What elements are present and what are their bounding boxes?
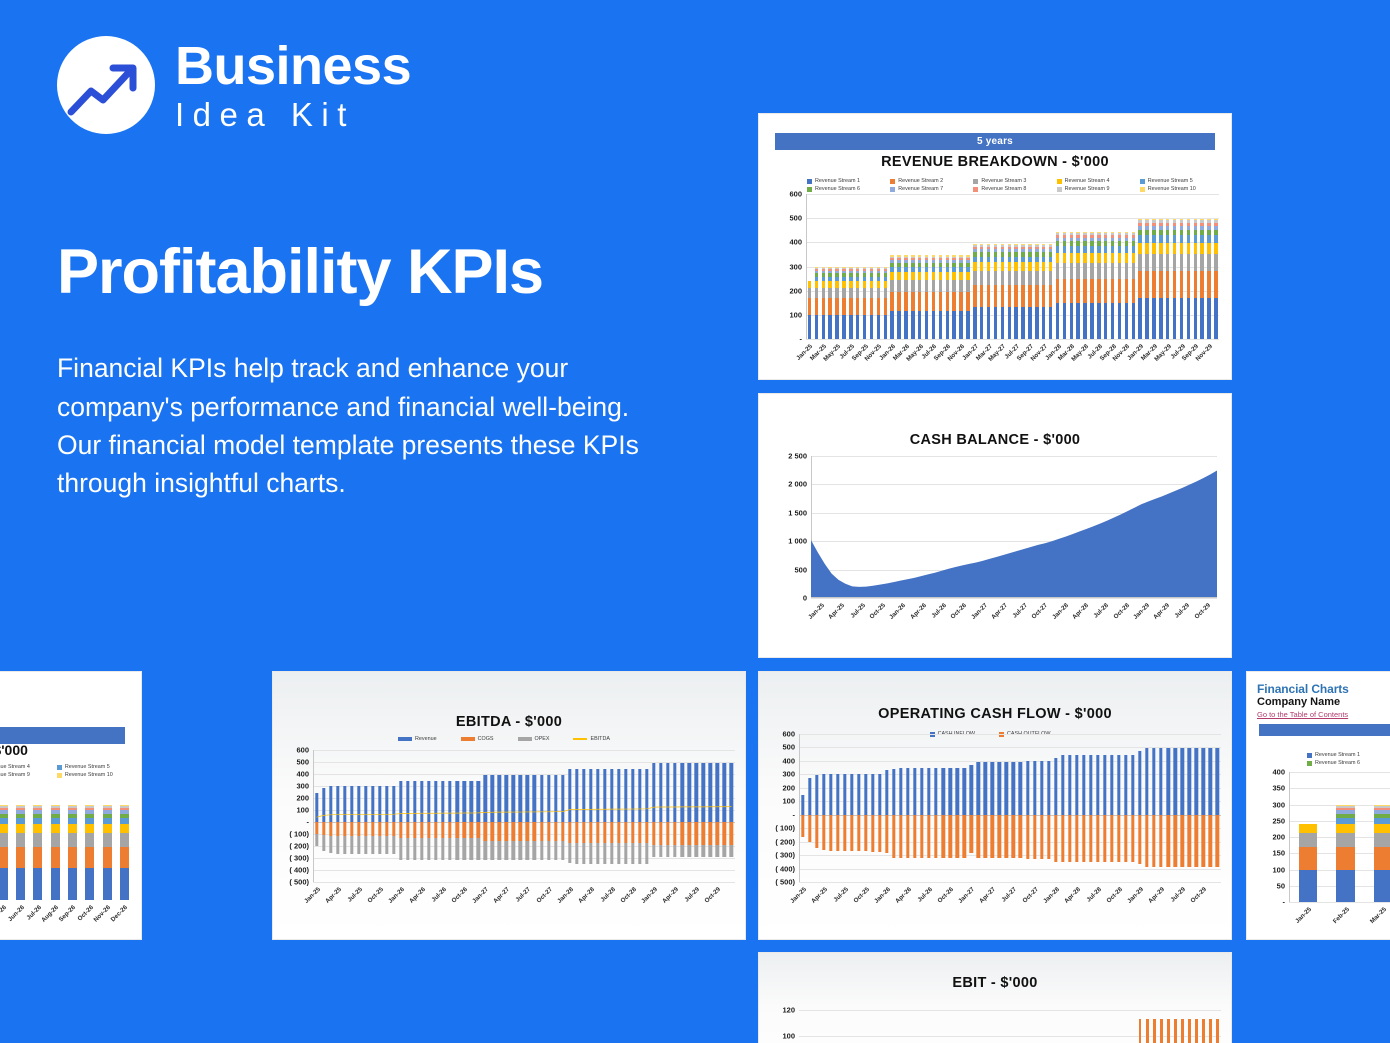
legend-label: Revenue Stream 9 <box>1065 186 1110 192</box>
stacked-bar <box>870 194 873 339</box>
bar-column <box>971 194 978 339</box>
bar-segment <box>952 311 955 339</box>
stacked-bar <box>828 194 831 339</box>
legend-color-swatch <box>890 179 895 184</box>
bar-column <box>968 997 975 1043</box>
bar-segment <box>884 315 887 339</box>
bar-segment <box>932 292 935 311</box>
bar-segment <box>904 292 907 311</box>
x-axis-tick-label: Feb-25 <box>1331 906 1350 925</box>
bar <box>1160 1019 1163 1043</box>
bar-segment <box>1214 271 1217 298</box>
card-financial-charts-panel[interactable]: Financial Charts Company Name Go to the … <box>1246 671 1390 940</box>
x-axis-labels-revenue-breakdown-24m: Nov-25Dec-25Jan-26Feb-26Mar-26Apr-26May-… <box>0 902 133 932</box>
bar-segment <box>1104 263 1107 279</box>
bar-segment <box>1138 243 1141 254</box>
bar-positive <box>1209 748 1212 814</box>
bar-positive <box>1061 755 1064 814</box>
bar-column <box>1199 194 1206 339</box>
bar-segment <box>828 288 831 299</box>
bar <box>1181 1019 1184 1043</box>
bar-segment <box>946 280 949 292</box>
bar-positive <box>1040 761 1043 814</box>
bar-column <box>1017 734 1024 882</box>
bar-column <box>961 997 968 1043</box>
bar-segment <box>994 307 997 339</box>
bar-segment <box>1104 253 1107 263</box>
bar-segment <box>16 833 25 847</box>
legend-color-swatch <box>1057 179 1062 184</box>
legend-item: Revenue Stream 1 <box>807 178 890 184</box>
x-tick-slot: Oct-29 <box>1197 600 1217 630</box>
bar-column <box>985 194 992 339</box>
x-tick-slot: Apr-26 <box>418 884 425 914</box>
bar-segment <box>1063 303 1066 339</box>
bar-segment <box>1374 847 1390 869</box>
bar-segment <box>16 824 25 833</box>
y-axis-tick-label: 350 <box>1272 784 1285 793</box>
bar-segment <box>1166 243 1169 254</box>
x-axis-labels-cash-balance: Jan-25Apr-25Jul-25Oct-25Jan-26Apr-26Jul-… <box>811 600 1217 630</box>
bar-segment <box>1070 253 1073 263</box>
stacked-bar <box>1021 194 1024 339</box>
bar-segment <box>987 262 990 271</box>
bar-wrap <box>1047 734 1050 882</box>
bar-segment <box>856 288 859 299</box>
y-axis-tick-label: 600 <box>789 190 802 199</box>
stacked-bar <box>1187 194 1190 339</box>
x-tick-slot: Apr-29 <box>1158 884 1165 914</box>
table-of-contents-link[interactable]: Go to the Table of Contents <box>1257 710 1348 719</box>
x-tick-slot: Oct-25 <box>376 884 383 914</box>
bar-column <box>1080 997 1087 1043</box>
bar-segment <box>1180 271 1183 298</box>
y-axis-tick-label: ( 100) <box>775 824 795 833</box>
bar-segment <box>1180 254 1183 272</box>
bar-segment <box>1056 253 1059 263</box>
legend-color-swatch <box>1307 761 1312 766</box>
bar-negative <box>1089 815 1092 862</box>
bar-segment <box>918 280 921 292</box>
bar-negative <box>1131 815 1134 862</box>
bar-positive <box>991 762 994 815</box>
legend-color-swatch <box>1140 179 1145 184</box>
plot-area-financial-charts-panel: 40035030025020015010050- <box>1289 772 1390 902</box>
bar-negative <box>956 815 959 858</box>
bar-segment <box>890 280 893 292</box>
bar-segment <box>33 868 42 900</box>
bar-column <box>1364 772 1390 902</box>
bar-segment <box>1194 243 1197 254</box>
bar-segment <box>939 280 942 292</box>
stacked-bar <box>1118 194 1121 339</box>
bar-segment <box>1001 262 1004 271</box>
bar-column <box>904 734 911 882</box>
plot-area-revenue-breakdown-5y: 600500400300200100- <box>806 194 1219 339</box>
bar-segment <box>842 288 845 299</box>
card-operating-cash-flow[interactable]: OPERATING CASH FLOW - $'000 CASH INFLOWC… <box>758 671 1232 940</box>
x-tick-slot: Jan-28 <box>566 884 573 914</box>
bar-column <box>1101 997 1108 1043</box>
bar-wrap <box>836 734 839 882</box>
bar-segment <box>1063 279 1066 303</box>
x-axis-tick-label: Apr-29 <box>1152 602 1171 621</box>
bar-column <box>1094 734 1101 882</box>
bar-column <box>912 997 919 1043</box>
bar-column <box>1178 194 1185 339</box>
bar-column <box>890 734 897 882</box>
bar-segment <box>16 868 25 900</box>
legend-item: Revenue Stream 10 <box>1140 186 1223 192</box>
bar-segment <box>68 847 77 868</box>
bar-segment <box>1152 235 1155 242</box>
x-tick-slot: Mar-25 <box>1364 904 1390 934</box>
bar-column <box>1137 997 1144 1043</box>
bar-segment <box>1132 303 1135 339</box>
bar-segment <box>1187 243 1190 254</box>
bar-negative <box>1054 815 1057 862</box>
bar-negative <box>1103 815 1106 862</box>
bar-segment <box>85 833 94 847</box>
x-tick-slot: Oct-26 <box>461 884 468 914</box>
bar-segment <box>1014 271 1017 285</box>
stacked-bar <box>911 194 914 339</box>
bar-column <box>875 194 882 339</box>
bar-column <box>841 734 848 882</box>
bar-segment <box>1118 279 1121 303</box>
x-tick-slot: Oct-26 <box>947 884 954 914</box>
bar-segment <box>987 285 990 307</box>
stacked-bar <box>51 790 60 900</box>
y-axis-tick-label: 400 <box>296 770 309 779</box>
bar-column <box>1024 997 1031 1043</box>
bar-segment <box>1063 263 1066 279</box>
x-axis-tick-label: Oct-29 <box>1193 602 1212 621</box>
bar-segment <box>884 288 887 299</box>
stacked-bar <box>973 194 976 339</box>
bar <box>1202 1019 1205 1043</box>
bar-column <box>1158 734 1165 882</box>
bar-segment <box>863 281 866 288</box>
bar-segment <box>1152 254 1155 272</box>
bar-wrap <box>808 734 811 882</box>
bar-positive <box>1159 748 1162 814</box>
bar-segment <box>1166 271 1169 298</box>
stacked-bar <box>120 790 129 900</box>
bar-wrap <box>1124 734 1127 882</box>
bar <box>1146 1019 1149 1043</box>
bar-negative <box>1159 815 1162 867</box>
bar-column <box>1089 194 1096 339</box>
bar-segment <box>952 280 955 292</box>
legend-label: Revenue Stream 10 <box>65 772 113 778</box>
bar-segment <box>1090 253 1093 263</box>
legend-item: Revenue Stream 8 <box>973 186 1056 192</box>
bar-negative <box>850 815 853 852</box>
bar-column <box>1082 194 1089 339</box>
bar-column <box>876 997 883 1043</box>
bar-column <box>1123 194 1130 339</box>
stacked-bar <box>1138 194 1141 339</box>
bar-column <box>930 194 937 339</box>
bar-segment <box>849 298 852 314</box>
bar-wrap <box>1117 734 1120 882</box>
bar-wrap <box>948 734 951 882</box>
bar-segment <box>863 288 866 299</box>
card-cash-balance[interactable]: CASH BALANCE - $'000 2 5002 0001 5001 00… <box>758 393 1232 658</box>
bar-segment <box>1214 298 1217 339</box>
bar-wrap <box>1216 734 1219 882</box>
bar-segment <box>1118 253 1121 263</box>
bar-negative <box>1152 815 1155 867</box>
bar-positive <box>899 768 902 814</box>
card-ebit[interactable]: EBIT - $'000 12010080 <box>758 952 1232 1043</box>
bar-segment <box>1083 253 1086 263</box>
bar-wrap <box>822 734 825 882</box>
y-axis-tick-label: 300 <box>789 262 802 271</box>
bar-segment <box>835 298 838 314</box>
bar-positive <box>1089 755 1092 814</box>
bar-segment <box>1173 235 1176 242</box>
stacked-bar <box>1070 194 1073 339</box>
bar-column <box>1207 734 1214 882</box>
legend-color-swatch <box>973 187 978 192</box>
bar-column <box>847 194 854 339</box>
bar-column <box>1186 734 1193 882</box>
y-axis-tick-label: 500 <box>794 565 807 574</box>
legend-revenue-streams-24m: Revenue Stream 3Revenue Stream 4Revenue … <box>0 764 137 778</box>
legend-label: Revenue Stream 4 <box>1065 178 1110 184</box>
x-axis-labels-operating-cash-flow: Jan-25Apr-25Jul-25Oct-25Jan-26Apr-26Jul-… <box>799 884 1221 914</box>
bar-wrap <box>892 734 895 882</box>
bar-wrap <box>1188 734 1191 882</box>
y-axis-tick-label: 400 <box>789 238 802 247</box>
bar-column <box>947 734 954 882</box>
card-revenue-breakdown-24m[interactable]: 24 months REAKDOWN - $'000 Revenue Strea… <box>0 671 142 940</box>
bar-column <box>1010 997 1017 1043</box>
bar-positive <box>843 774 846 815</box>
bar-segment <box>1138 235 1141 242</box>
bar-negative <box>1005 815 1008 859</box>
bar-column <box>1185 194 1192 339</box>
bar-segment <box>1200 271 1203 298</box>
x-tick-slot <box>1214 884 1221 914</box>
bar-negative <box>1181 815 1184 867</box>
bar-segment <box>925 292 928 311</box>
bar-segment <box>946 292 949 311</box>
bar-segment <box>1159 243 1162 254</box>
stacked-bar <box>877 194 880 339</box>
bar-segment <box>1200 298 1203 339</box>
bar-segment <box>1336 833 1354 847</box>
slide-canvas: Business Idea Kit Profitability KPIs Fin… <box>0 0 1390 1043</box>
bar-wrap <box>801 734 804 882</box>
bar-segment <box>1180 243 1183 254</box>
bar-segment <box>994 285 997 307</box>
bar-segment <box>1028 271 1031 285</box>
bar-wrap <box>850 734 853 882</box>
bar-segment <box>925 280 928 292</box>
bar-segment <box>1299 824 1317 833</box>
bar-segment <box>959 272 962 280</box>
bar-segment <box>1194 254 1197 272</box>
bar-column <box>933 997 940 1043</box>
bar-positive <box>906 768 909 814</box>
bar-column <box>958 194 965 339</box>
legend-color-swatch <box>398 737 412 741</box>
legend-color-swatch <box>518 737 532 741</box>
bar-column <box>827 194 834 339</box>
bar-segment <box>877 288 880 299</box>
y-axis-tick-label: 2 000 <box>788 480 807 489</box>
bar-wrap <box>977 734 980 882</box>
bar-positive <box>941 768 944 814</box>
legend-label: Revenue Stream 7 <box>898 186 943 192</box>
bar-column <box>1033 194 1040 339</box>
bar-column <box>964 194 971 339</box>
x-axis-tick-label: Jan-25 <box>789 886 808 905</box>
bar-segment <box>835 315 838 339</box>
x-axis-labels-financial-charts-panel: Jan-25Feb-25Mar-25Apr-25May-25Jun-25 <box>1289 904 1390 934</box>
bar-column <box>1137 734 1144 882</box>
bar-segment <box>904 311 907 339</box>
bar-negative <box>1166 815 1169 867</box>
bar-segment <box>890 292 893 311</box>
bar-segment <box>1166 298 1169 339</box>
bar-segment <box>1374 833 1390 847</box>
x-tick-slot: Jan-27 <box>482 884 489 914</box>
stacked-bar <box>1104 194 1107 339</box>
bar-column <box>996 734 1003 882</box>
bar-segment <box>1187 271 1190 298</box>
bar-negative <box>1209 815 1212 867</box>
y-axis-tick-label: 500 <box>782 743 795 752</box>
x-axis-tick-label: Jul-28 <box>1093 602 1111 620</box>
bar-segment <box>1076 303 1079 339</box>
bar-column <box>855 997 862 1043</box>
bar-segment <box>1070 279 1073 303</box>
bar-segment <box>85 847 94 868</box>
bar-column <box>834 194 841 339</box>
bar-segment <box>815 298 818 314</box>
bar-column <box>889 194 896 339</box>
bar-column <box>1157 194 1164 339</box>
bar-column <box>882 194 889 339</box>
y-axis-tick-label: 150 <box>1272 849 1285 858</box>
bar-segment <box>1194 271 1197 298</box>
bar-column <box>869 997 876 1043</box>
bar-column <box>947 997 954 1043</box>
bar-segment <box>1159 271 1162 298</box>
x-tick-slot: Oct-28 <box>1115 884 1122 914</box>
bar-wrap <box>1089 734 1092 882</box>
bar-wrap <box>857 734 860 882</box>
bar-positive <box>1195 748 1198 814</box>
bar-segment <box>1104 279 1107 303</box>
bar-wrap <box>991 734 994 882</box>
bar-segment <box>808 315 811 339</box>
bar-segment <box>51 868 60 900</box>
legend-item: Revenue Stream 5 <box>57 764 137 770</box>
bar-column <box>1137 194 1144 339</box>
stacked-bar <box>1145 194 1148 339</box>
bar <box>1174 1019 1177 1043</box>
bar-column <box>81 790 98 900</box>
legend-label: Revenue Stream 5 <box>65 764 110 770</box>
stacked-bar <box>1083 194 1086 339</box>
bar-segment <box>1125 279 1128 303</box>
y-axis-tick-label: 200 <box>782 783 795 792</box>
stacked-bar <box>897 194 900 339</box>
bar-wrap <box>815 734 818 882</box>
bar-positive <box>808 778 811 815</box>
bar-segment <box>1299 847 1317 869</box>
bar-segment <box>1056 263 1059 279</box>
bar-segment <box>1336 824 1354 833</box>
x-tick-slot: Oct-29 <box>1200 884 1207 914</box>
bar-positive <box>956 768 959 814</box>
bar-segment <box>1076 279 1079 303</box>
stacked-bar <box>946 194 949 339</box>
stacked-bar <box>863 194 866 339</box>
bar-wrap <box>956 734 959 882</box>
legend-label: COGS <box>478 736 494 742</box>
chart-title-revenue-breakdown-24m: REAKDOWN - $'000 <box>0 742 28 758</box>
stacked-bar <box>1008 194 1011 339</box>
bar-segment <box>856 298 859 314</box>
bar-column <box>1151 734 1158 882</box>
bar-segment <box>1008 285 1011 307</box>
bar-segment <box>856 315 859 339</box>
bar-column <box>1045 997 1052 1043</box>
card-revenue-breakdown-5y[interactable]: 5 years REVENUE BREAKDOWN - $'000 Revenu… <box>758 113 1232 380</box>
stacked-bar <box>1214 194 1217 339</box>
bar-wrap <box>913 734 916 882</box>
panel-company-name: Company Name <box>1257 696 1340 708</box>
y-axis-tick-label: - <box>793 810 796 819</box>
bar-segment <box>952 272 955 280</box>
stacked-bar <box>835 194 838 339</box>
stacked-bar <box>925 194 928 339</box>
bar-negative <box>1075 815 1078 862</box>
bar-negative <box>843 815 846 852</box>
card-ebitda[interactable]: EBITDA - $'000 RevenueCOGSOPEXEBITDA 600… <box>272 671 746 940</box>
bar-column <box>869 734 876 882</box>
bar-positive <box>913 768 916 814</box>
bar-column <box>1122 997 1129 1043</box>
bar-negative <box>885 815 888 854</box>
bar-wrap <box>1138 734 1141 882</box>
legend-item: Revenue Stream 5 <box>1140 178 1223 184</box>
bar-segment <box>1173 243 1176 254</box>
bar-negative <box>1110 815 1113 862</box>
area-series-cash-balance <box>811 456 1217 598</box>
bar-negative <box>1012 815 1015 859</box>
bar-negative <box>801 815 804 837</box>
bar-column <box>1020 194 1027 339</box>
bar-segment <box>980 285 983 307</box>
plot-area-ebitda: 600500400300200100-( 100)( 200)( 300)( 4… <box>313 750 735 882</box>
bar-positive <box>1054 758 1057 815</box>
legend-color-swatch <box>1140 187 1145 192</box>
bar-column <box>961 734 968 882</box>
bar-column <box>890 997 897 1043</box>
stacked-bar <box>1076 194 1079 339</box>
bar-negative <box>1047 815 1050 859</box>
bar-segment <box>959 311 962 339</box>
plot-area-cash-balance: 2 5002 0001 5001 0005000 <box>811 456 1217 598</box>
bar-negative <box>836 815 839 852</box>
